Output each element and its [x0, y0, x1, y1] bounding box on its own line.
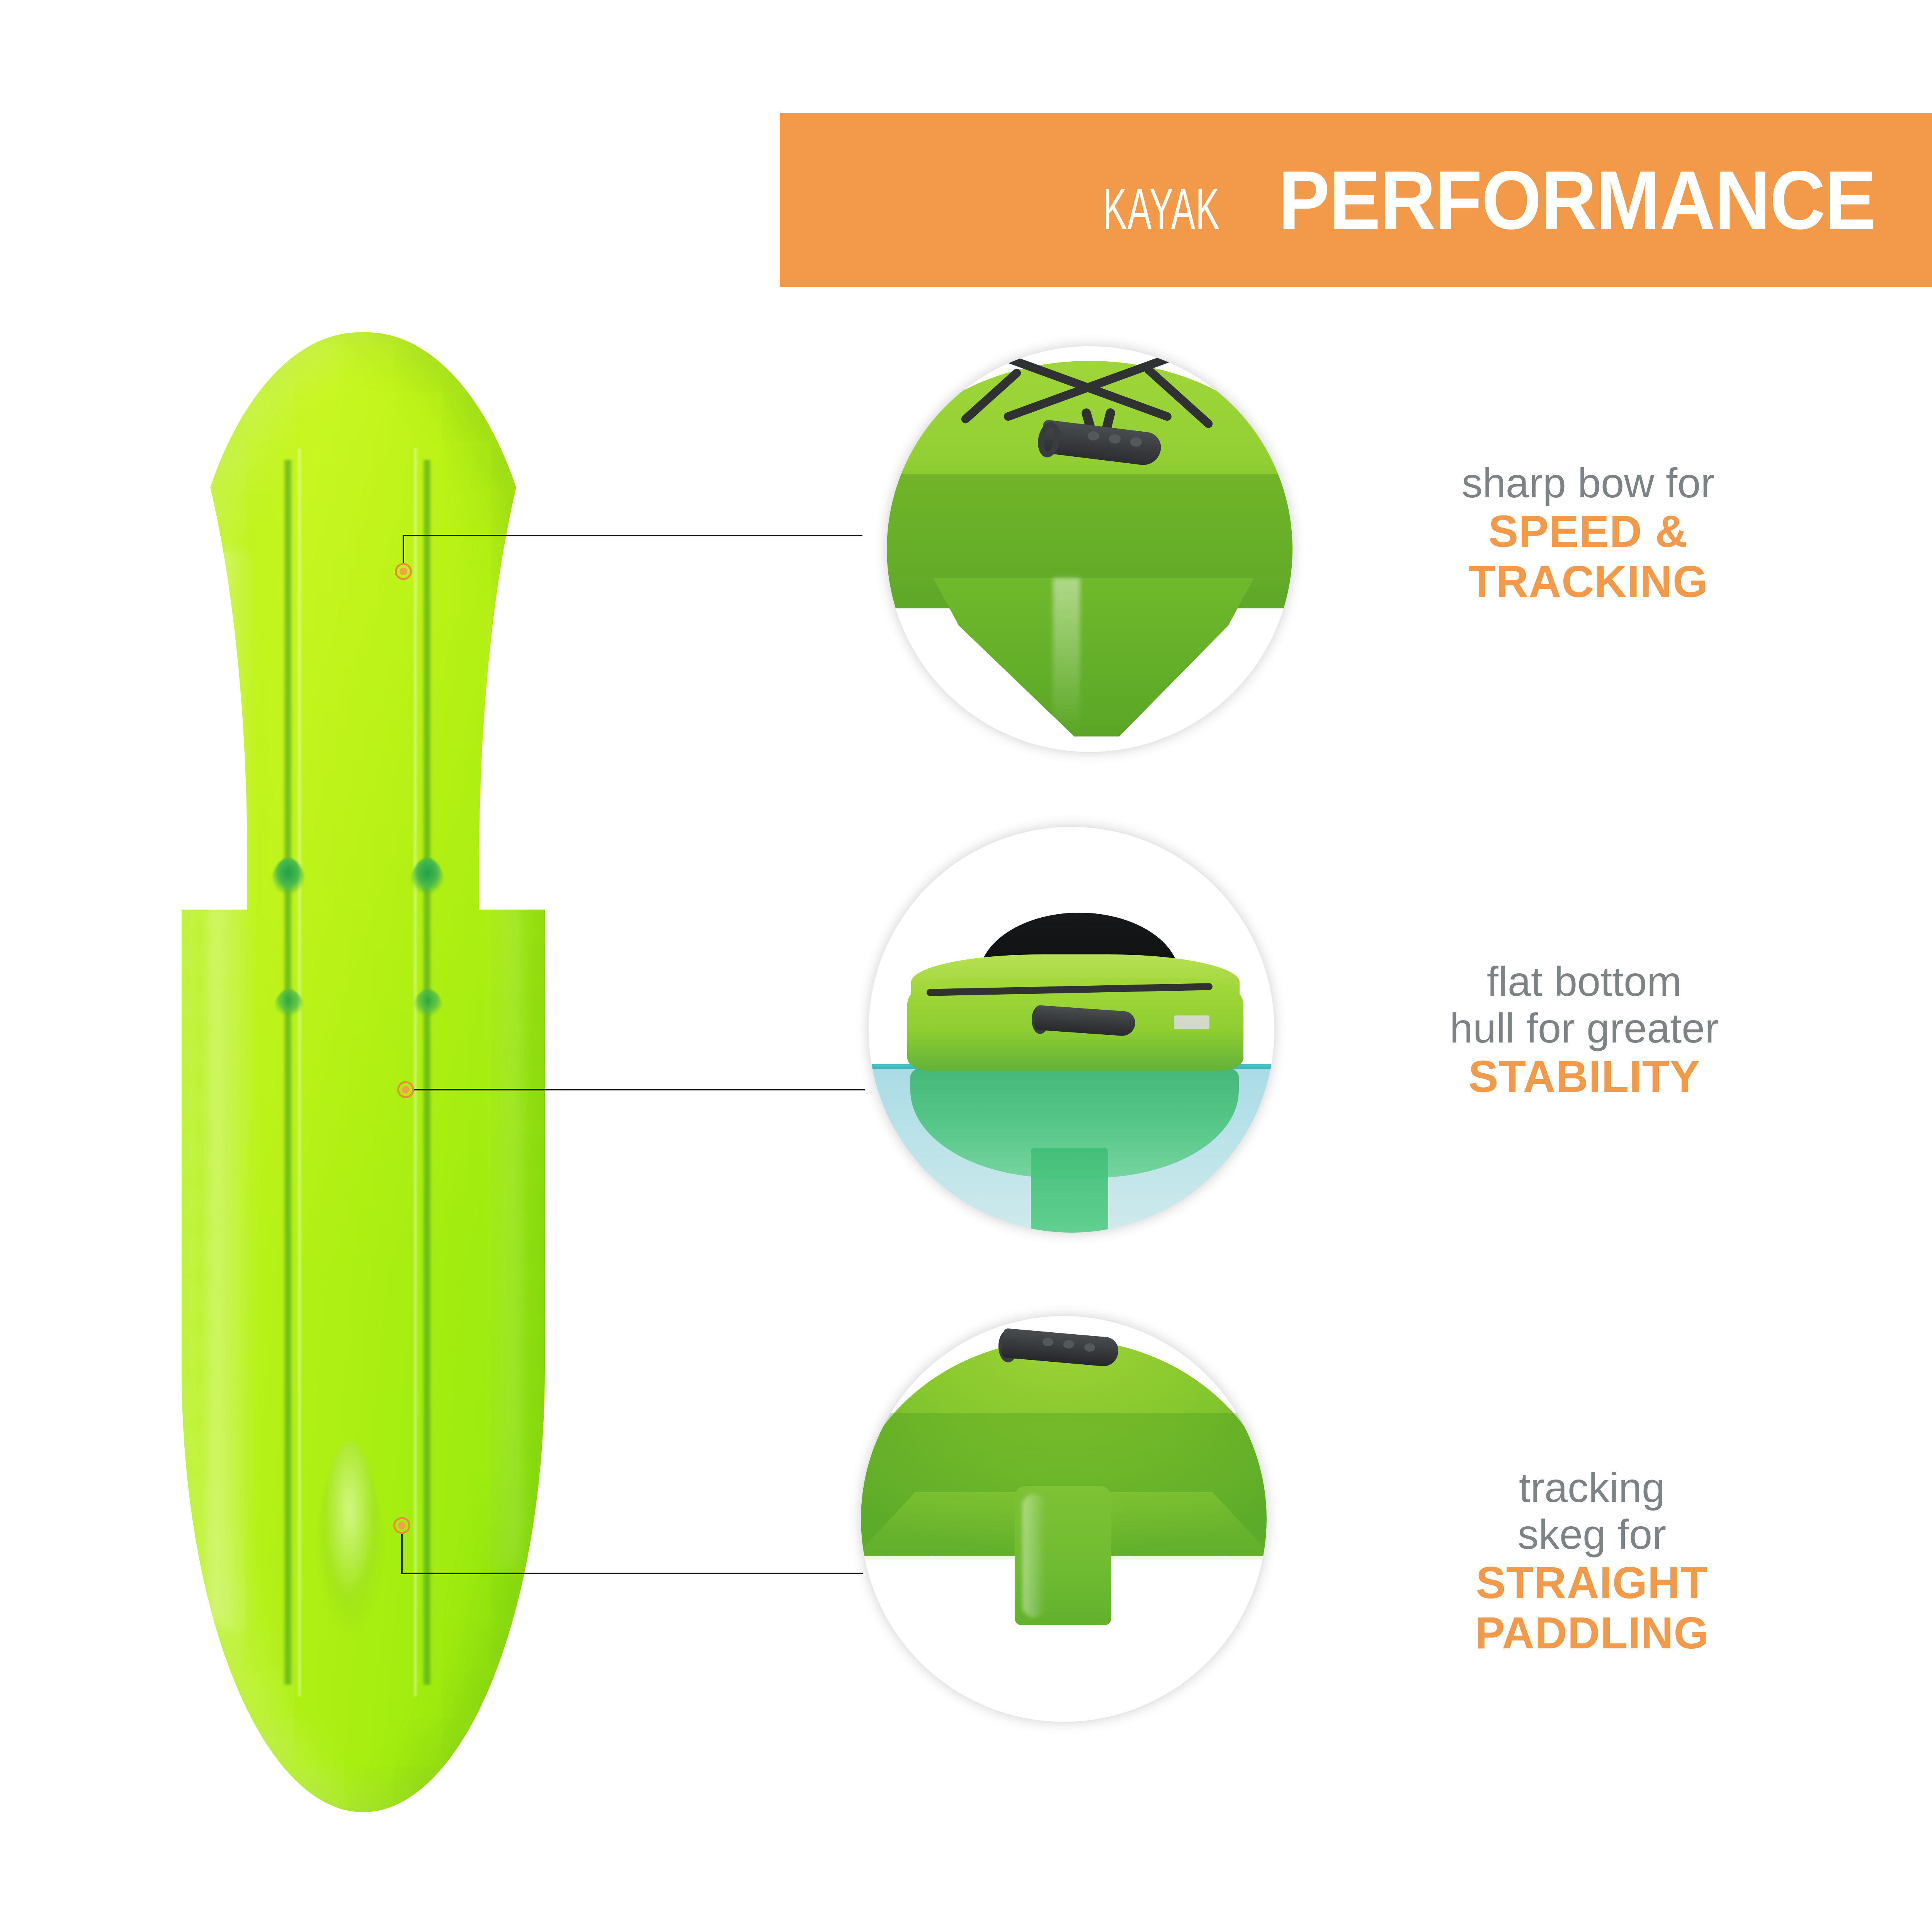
leader-line-1-vertical [403, 536, 404, 564]
callout-image-sharp-bow [887, 346, 1293, 752]
leader-line-3-vertical [401, 1533, 403, 1574]
feature-2-bold-line-1: STABILITY [1352, 1052, 1816, 1102]
hull-channel-right [422, 460, 432, 1685]
hull-channel-left [283, 460, 293, 1685]
feature-text-tracking-skeg: tracking skeg for STRAIGHT PADDLING [1360, 1464, 1824, 1658]
hull-ridge-left [298, 448, 301, 1696]
feature-1-bold-line-1: SPEED & [1356, 507, 1820, 557]
leader-line-1-horizontal [403, 535, 862, 536]
skeg-highlight [1022, 1494, 1046, 1617]
callout-marker-sharp-bow[interactable] [395, 563, 412, 580]
header-banner: KAYAK PERFORMANCE [780, 113, 1932, 287]
handle-knob-3 [1130, 437, 1142, 447]
callout-marker-tracking-skeg[interactable] [393, 1517, 410, 1534]
bow-taper-left [120, 330, 247, 910]
feature-2-light-line-1: flat bottom [1352, 958, 1816, 1005]
feature-3-light-line-1: tracking [1360, 1464, 1824, 1511]
callout-2-inner: LIFETIME [869, 827, 1274, 1233]
callout-3-inner [861, 1316, 1267, 1722]
callout-image-tracking-skeg [861, 1316, 1267, 1722]
feature-3-light-line-2: skeg for [1360, 1511, 1824, 1558]
bow-taper-right [479, 330, 607, 910]
skeg-underwater [1031, 1148, 1108, 1233]
feature-1-light-line: sharp bow for [1356, 460, 1820, 507]
feature-text-sharp-bow: sharp bow for SPEED & TRACKING [1356, 460, 1820, 607]
skeg-handle-knob-2 [1063, 1340, 1074, 1349]
leader-line-3-horizontal [401, 1573, 863, 1574]
feature-3-bold-line-2: PADDLING [1360, 1608, 1824, 1658]
skeg-handle-knob-3 [1084, 1343, 1095, 1352]
page-title: KAYAK PERFORMANCE [1067, 158, 1898, 241]
callout-1-inner [887, 346, 1293, 752]
callout-marker-flat-bottom-hull[interactable] [397, 1081, 414, 1098]
feature-3-bold-line-1: STRAIGHT [1360, 1558, 1824, 1608]
bow-v-keel [933, 578, 1254, 736]
title-bold-word: PERFORMANCE [1278, 158, 1876, 241]
handle-knob-1 [1088, 431, 1099, 440]
spec-label-plate [1174, 1015, 1209, 1029]
kayak-hull-figure [182, 332, 545, 1812]
feature-2-light-line-2: hull for greater [1352, 1005, 1816, 1052]
leader-line-2-horizontal [413, 1089, 865, 1090]
skeg-handle-knob-1 [1043, 1338, 1053, 1346]
handle-knob-2 [1109, 434, 1121, 444]
feature-1-bold-line-2: TRACKING [1356, 557, 1820, 607]
infographic-canvas: KAYAK PERFORMANCE [0, 0, 1932, 1932]
hull-ridge-right [413, 448, 417, 1696]
title-light-word: KAYAK [1103, 180, 1220, 238]
bow-keel-highlight [1053, 578, 1080, 733]
callout-image-flat-bottom-hull: LIFETIME [869, 827, 1274, 1233]
feature-text-flat-bottom-hull: flat bottom hull for greater STABILITY [1352, 958, 1816, 1102]
